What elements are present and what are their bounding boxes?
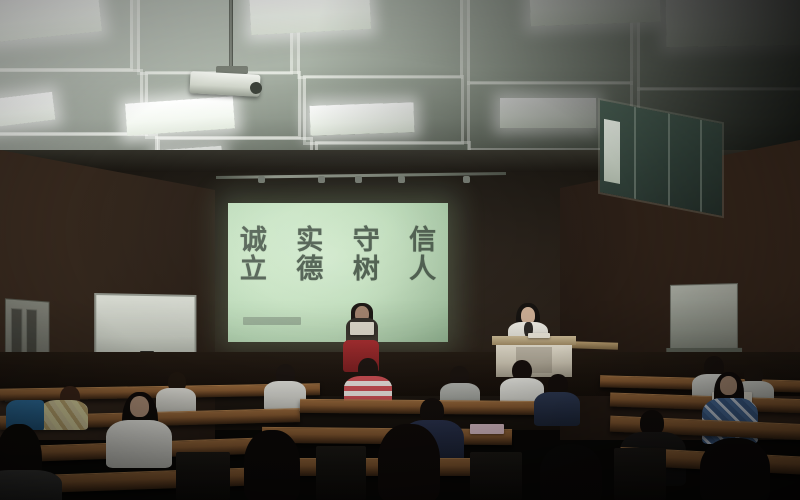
track-light-lamp	[463, 176, 470, 183]
booth-mullion	[700, 120, 702, 212]
whiteboard-left	[94, 293, 196, 357]
student-hair	[700, 438, 770, 500]
slide-footer-tag	[243, 317, 301, 325]
student-torso	[106, 420, 172, 468]
ceiling-light-panel	[310, 102, 415, 136]
student-hair	[244, 430, 300, 500]
student-hair	[378, 424, 440, 500]
booth-mullion	[668, 113, 670, 205]
podium-papers	[528, 333, 550, 338]
student-torso	[534, 392, 580, 426]
student-torso	[40, 400, 88, 430]
ceiling-light-panel	[529, 0, 660, 26]
track-light-lamp	[355, 176, 362, 183]
track-light-lamp	[258, 176, 265, 183]
student-head	[720, 376, 737, 395]
speaker-papers	[350, 322, 374, 335]
student-head	[130, 396, 149, 417]
whiteboard-right	[670, 283, 738, 351]
projection-screen: 诚 实 守 信 立 德 树 人	[228, 203, 448, 342]
student-torso	[0, 470, 62, 500]
ceiling-light-panel	[666, 0, 800, 47]
seat-back	[176, 452, 230, 500]
track-light-lamp	[398, 176, 405, 183]
projector-mount-pole	[229, 0, 233, 70]
slide-text: 诚 实 守 信 立 德 树 人	[228, 227, 448, 284]
pink-folder	[470, 424, 504, 434]
seat-back	[470, 452, 522, 500]
seat-back	[316, 446, 366, 500]
slide-line-2: 立 德 树 人	[228, 256, 448, 285]
track-light-lamp	[318, 176, 325, 183]
ceiling-light-panel	[500, 98, 596, 128]
student-hair	[540, 444, 602, 500]
booth-mullion	[634, 107, 636, 199]
lecture-hall-photo: 诚 实 守 信 立 德 树 人	[0, 0, 800, 500]
slide-line-1: 诚 实 守 信	[228, 227, 448, 256]
booth-window-glare	[604, 119, 620, 184]
seat-back	[614, 448, 666, 500]
